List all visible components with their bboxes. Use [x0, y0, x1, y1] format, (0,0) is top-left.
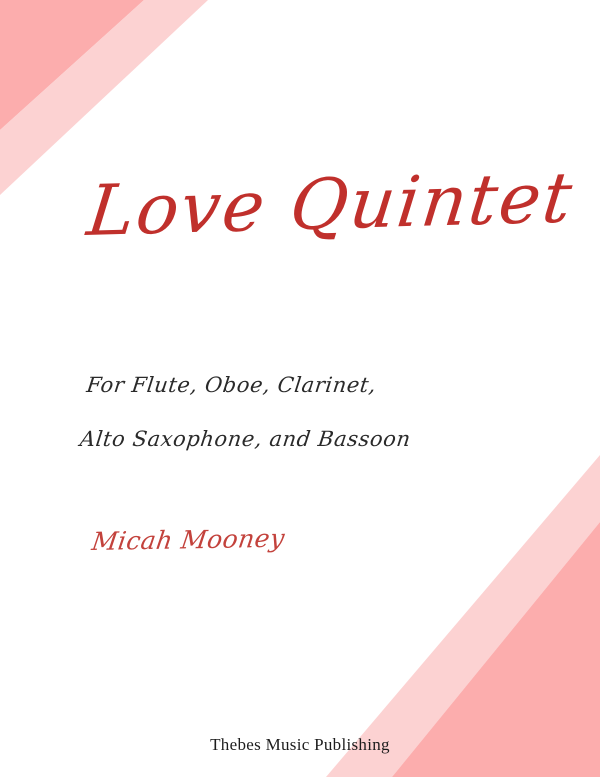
publisher-name: Thebes Music Publishing [0, 735, 600, 755]
sheet-music-cover-page: Love Quintet For Flute, Oboe, Clarinet, … [0, 0, 600, 777]
page-title: Love Quintet [84, 164, 523, 246]
instrumentation-subtitle: For Flute, Oboe, Clarinet, Alto Saxophon… [77, 358, 510, 466]
composer-name: Micah Mooney [90, 523, 395, 556]
cover-content: Love Quintet For Flute, Oboe, Clarinet, … [0, 0, 600, 777]
instrumentation-line-2: Alto Saxophone, and Bassoon [77, 412, 504, 466]
instrumentation-line-1: For Flute, Oboe, Clarinet, [83, 358, 510, 412]
